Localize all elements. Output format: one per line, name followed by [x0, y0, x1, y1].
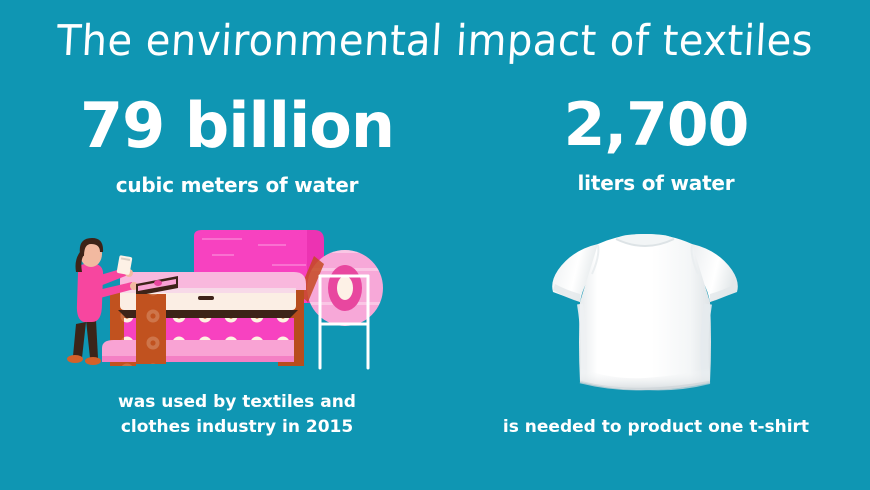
caption-line-1: is needed to product one t-shirt — [456, 415, 856, 440]
white-tshirt-illustration — [520, 222, 770, 407]
caption-line-1: was used by textiles and — [18, 390, 456, 415]
stat-block-water-per-shirt: 2,700 liters of water — [456, 95, 856, 195]
stat-label-water-volume: cubic meters of water — [18, 173, 456, 197]
caption-line-2: clothes industry in 2015 — [18, 415, 456, 440]
stat-caption-water-volume: was used by textiles and clothes industr… — [18, 390, 456, 439]
stat-label-water-per-shirt: liters of water — [456, 171, 856, 195]
stat-number-water-per-shirt: 2,700 — [456, 95, 856, 155]
stats-columns: 79 billion cubic meters of water — [0, 0, 870, 490]
stat-block-water-volume: 79 billion cubic meters of water — [18, 95, 456, 197]
infographic-canvas: The environmental impact of textiles 79 … — [0, 0, 870, 490]
stat-caption-water-per-shirt: is needed to product one t-shirt — [456, 415, 856, 440]
stat-number-water-volume: 79 billion — [18, 95, 456, 157]
textile-printing-machine-illustration — [62, 228, 392, 373]
